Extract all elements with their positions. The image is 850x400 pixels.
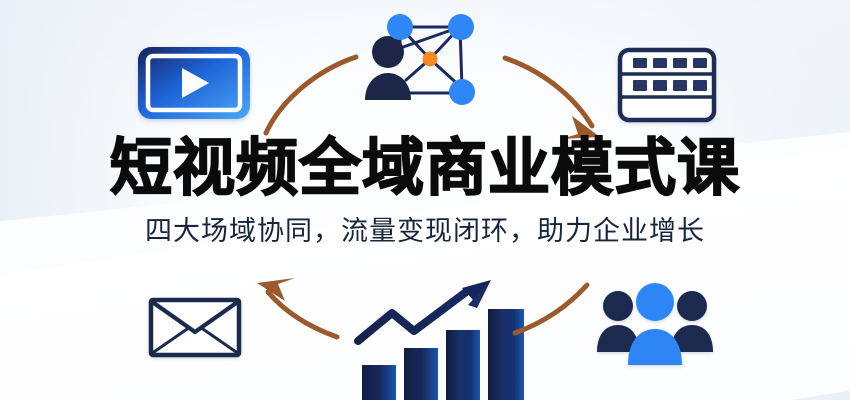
person-center <box>628 283 682 365</box>
network-node-center-accent <box>423 52 438 67</box>
page-subtitle: 四大场域协同，流量变现闭环，助力企业增长 <box>0 214 850 248</box>
network-node-top-right <box>448 14 474 40</box>
chart-bar-3 <box>446 330 480 400</box>
network-node-top-left <box>387 14 413 40</box>
chart-bar-2 <box>404 348 438 400</box>
chart-bar-1 <box>362 365 396 400</box>
video-play-icon <box>138 47 250 119</box>
people-group-icon <box>597 283 713 365</box>
user-network-icon <box>365 14 475 105</box>
envelope-icon <box>151 300 239 355</box>
headline-block: 短视频全域商业模式课 四大场域协同，流量变现闭环，助力企业增长 <box>0 132 850 248</box>
chart-bar-4 <box>488 309 524 400</box>
course-promo-banner: 短视频全域商业模式课 四大场域协同，流量变现闭环，助力企业增长 <box>0 0 850 400</box>
arc-arrow-top-right <box>505 58 592 126</box>
arc-arrow-top-left <box>266 57 356 133</box>
arc-arrow-bottom-left <box>268 292 337 337</box>
page-title: 短视频全域商业模式课 <box>0 132 850 206</box>
server-rack-icon <box>620 50 714 120</box>
arc-arrow-bottom-right <box>515 285 587 333</box>
growth-bar-chart-icon <box>358 280 524 400</box>
network-node-bottom-right <box>449 79 475 105</box>
